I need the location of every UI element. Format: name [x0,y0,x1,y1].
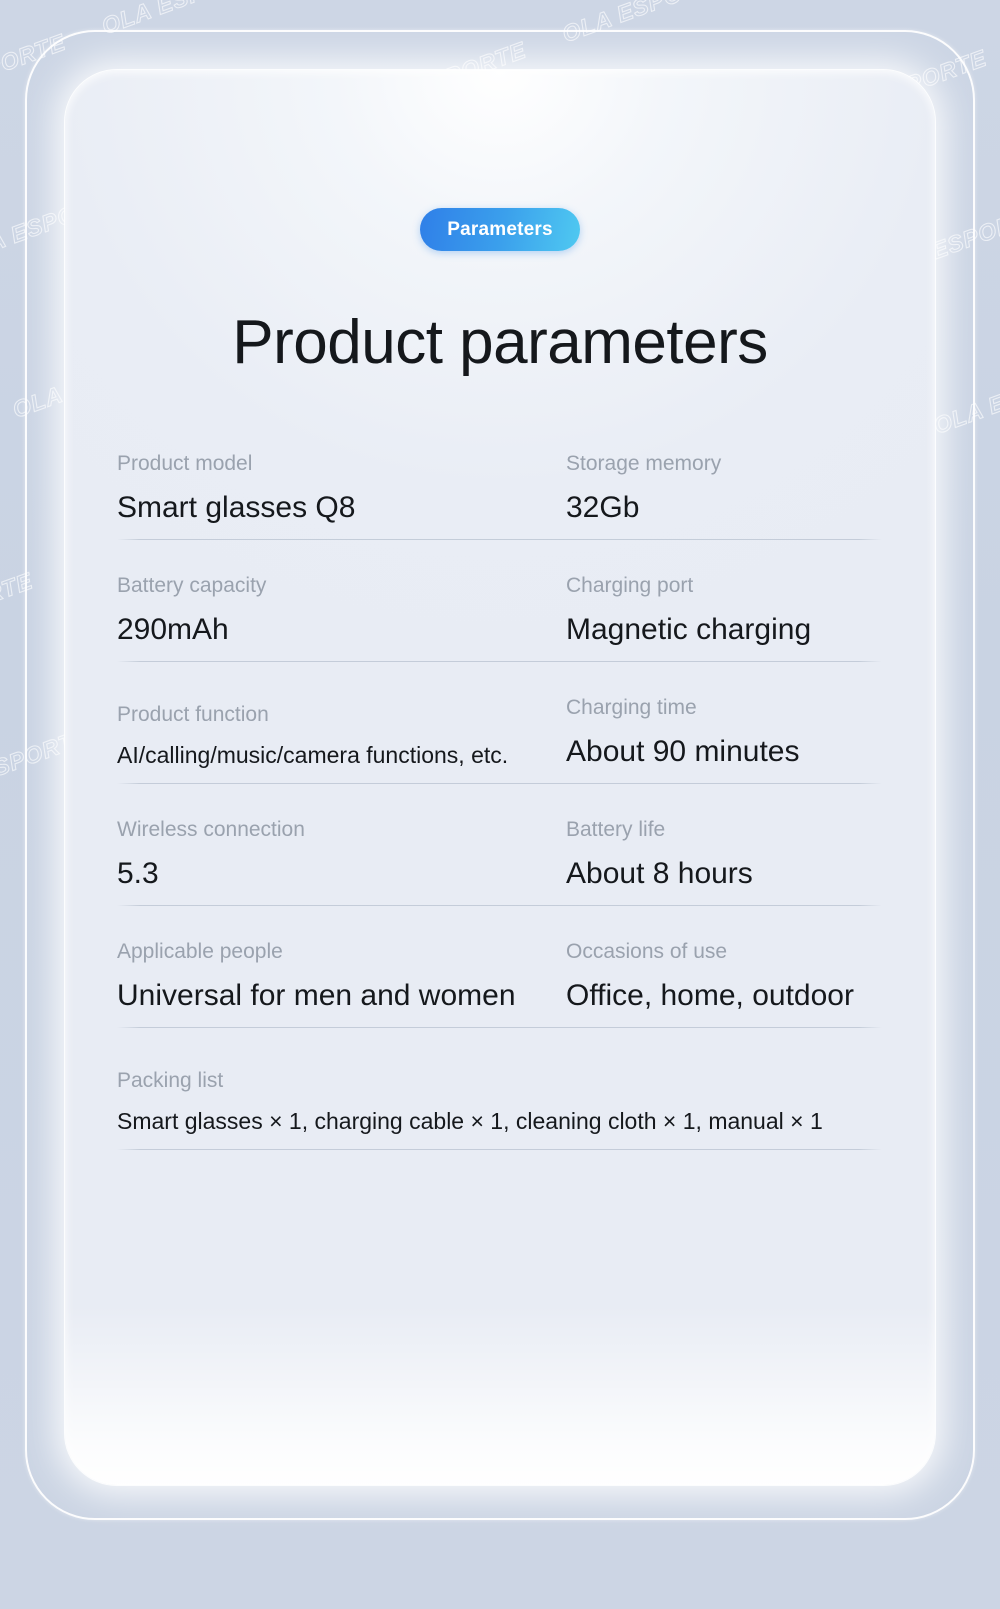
parameter-row: Applicable peopleUniversal for men and w… [117,906,882,1028]
parameter-row-packing: Packing listSmart glasses × 1, charging … [117,1028,882,1150]
parameter-label: Battery capacity [117,575,566,596]
parameter-value: Smart glasses Q8 [117,493,566,523]
parameter-row-cells: Product functionAI/calling/music/camera … [117,662,882,767]
parameter-label: Occasions of use [566,941,882,962]
parameter-value: About 8 hours [566,859,882,889]
parameter-label: Packing list [117,1070,882,1091]
parameter-value: AI/calling/music/camera functions, etc. [117,744,566,767]
parameter-cell-right: Storage memory32Gb [566,453,882,523]
parameters-list: Product modelSmart glasses Q8Storage mem… [117,418,882,1150]
parameter-row-cells: Applicable peopleUniversal for men and w… [117,906,882,1011]
parameter-label: Charging port [566,575,882,596]
parameter-label: Wireless connection [117,819,566,840]
product-parameters-page: OLA ESPORTEOLA ESPORTEOLA ESPORTEOLA ESP… [0,0,1000,1609]
parameter-cell-right: Charging portMagnetic charging [566,575,882,645]
parameter-cell-right: Battery lifeAbout 8 hours [566,819,882,889]
page-title: Product parameters [65,307,935,378]
parameter-value: Office, home, outdoor [566,981,882,1011]
parameter-value: Smart glasses × 1, charging cable × 1, c… [117,1110,882,1133]
parameter-label: Product function [117,704,566,725]
watermark-text: OLA ESPORTE [502,0,760,23]
parameter-row-cells: Packing listSmart glasses × 1, charging … [117,1028,882,1133]
parameter-cell-left: Applicable peopleUniversal for men and w… [117,941,566,1011]
parameter-value: 5.3 [117,859,566,889]
parameters-card: Parameters Product parameters Product mo… [65,70,935,1485]
parameter-label: Applicable people [117,941,566,962]
parameter-cell-left: Battery capacity290mAh [117,575,566,645]
parameter-value: Universal for men and women [117,981,566,1011]
parameter-cell-right: Charging timeAbout 90 minutes [566,697,882,767]
parameter-row: Battery capacity290mAhCharging portMagne… [117,540,882,662]
parameter-row-cells: Product modelSmart glasses Q8Storage mem… [117,418,882,523]
badge-row: Parameters [65,208,935,251]
parameter-label: Product model [117,453,566,474]
parameter-row-cells: Wireless connection5.3Battery lifeAbout … [117,784,882,889]
parameter-label: Storage memory [566,453,882,474]
parameter-cell-left: Packing listSmart glasses × 1, charging … [117,1070,882,1133]
parameter-row-cells: Battery capacity290mAhCharging portMagne… [117,540,882,645]
parameter-value: 290mAh [117,615,566,645]
parameters-badge: Parameters [420,208,580,251]
watermark-text: OLA ESPORTE [42,0,300,15]
parameter-value: About 90 minutes [566,737,882,767]
parameter-label: Charging time [566,697,882,718]
watermark-text: OLA ESPORTE [0,243,9,472]
parameter-value: Magnetic charging [566,615,882,645]
parameter-row: Product modelSmart glasses Q8Storage mem… [117,418,882,540]
parameter-cell-right: Occasions of useOffice, home, outdoor [566,941,882,1011]
parameter-value: 32Gb [566,493,882,523]
parameter-cell-left: Product modelSmart glasses Q8 [117,453,566,523]
parameter-cell-left: Wireless connection5.3 [117,819,566,889]
row-divider [117,1149,882,1150]
parameter-row: Wireless connection5.3Battery lifeAbout … [117,784,882,906]
parameter-row: Product functionAI/calling/music/camera … [117,662,882,784]
parameter-cell-left: Product functionAI/calling/music/camera … [117,704,566,767]
parameter-label: Battery life [566,819,882,840]
